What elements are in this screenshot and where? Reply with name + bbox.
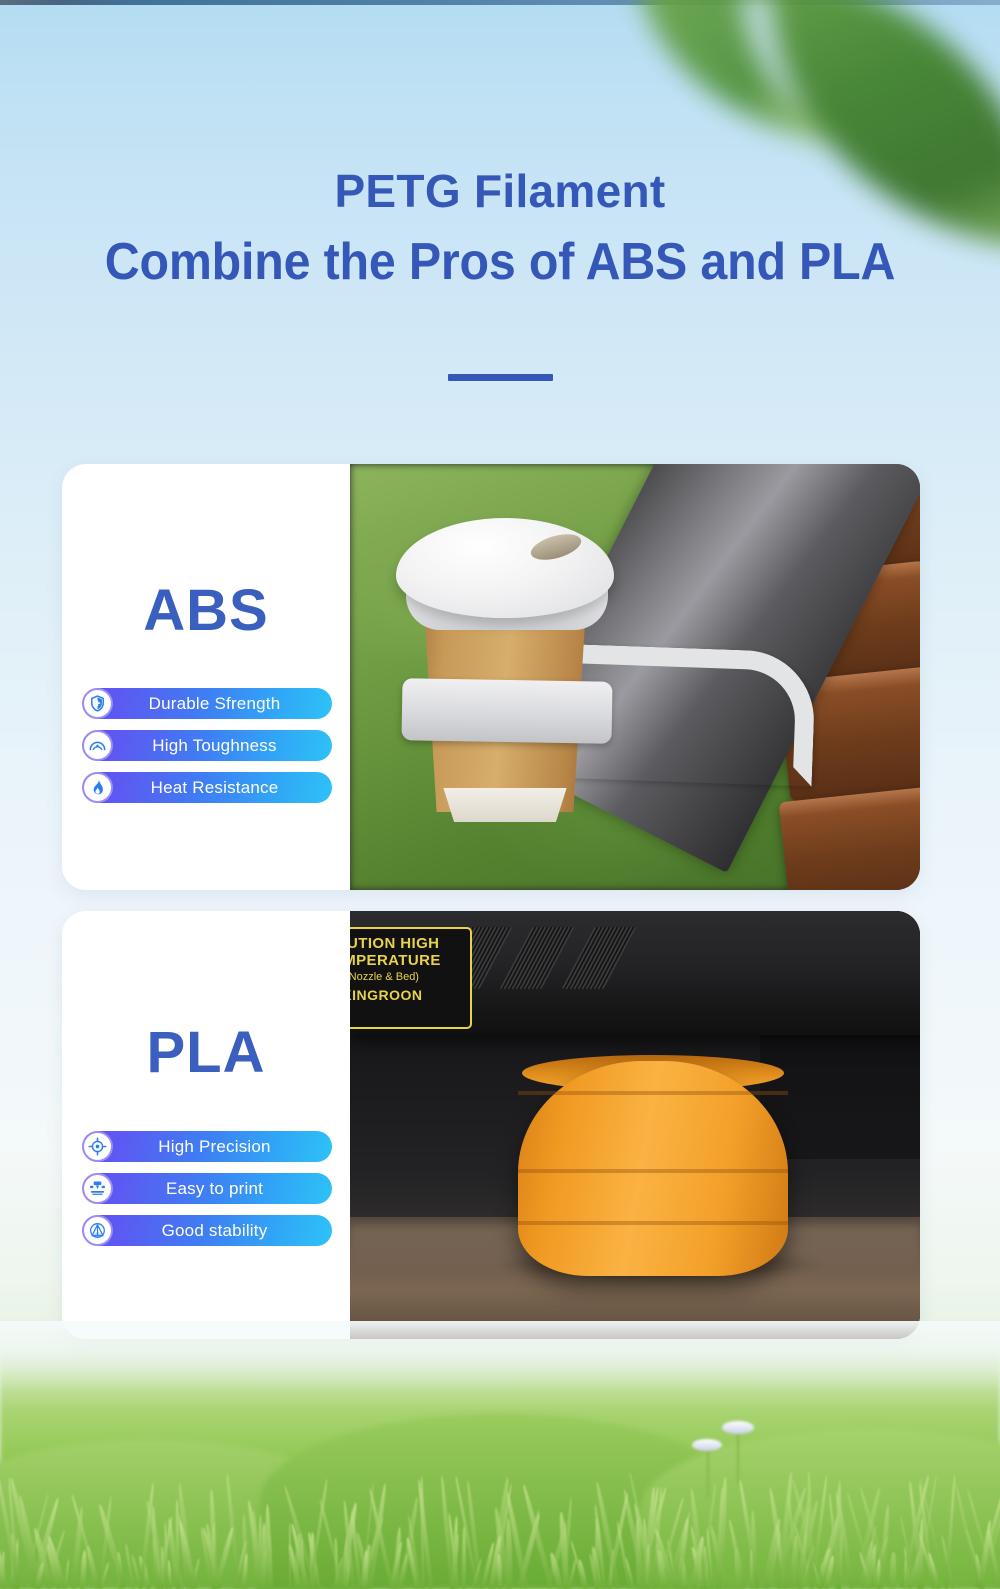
grass-foreground xyxy=(0,1321,1000,1589)
page-title: PETG Filament xyxy=(0,168,1000,214)
material-card-abs: ABS Durable Sfrength xyxy=(62,464,920,890)
abs-feature-list: Durable Sfrength High Toughness xyxy=(82,688,332,814)
flower-stem xyxy=(737,1431,739,1483)
badge-label: High Toughness xyxy=(111,736,332,756)
flower-head xyxy=(722,1421,754,1434)
shield-icon xyxy=(84,690,111,717)
badge-good-stability[interactable]: Good stability xyxy=(82,1215,332,1246)
vase-layer-line xyxy=(518,1221,788,1225)
grass-blade xyxy=(462,1526,467,1589)
cup-bottom xyxy=(438,788,572,822)
title-divider xyxy=(448,374,553,381)
badge-label: Heat Resistance xyxy=(111,778,332,798)
pla-material-name: PLA xyxy=(62,1019,350,1086)
abs-cup-holder-photo xyxy=(350,464,920,890)
orange-printed-vase xyxy=(518,1061,788,1276)
abs-material-name: ABS xyxy=(62,577,350,644)
grass-blade xyxy=(212,1523,215,1589)
white-flower xyxy=(690,1433,726,1497)
badge-label: Good stability xyxy=(111,1221,332,1241)
printed-cup-holder-band xyxy=(401,678,612,744)
caution-line-2: TEMPERATURE xyxy=(350,952,470,969)
badge-durable-strength[interactable]: Durable Sfrength xyxy=(82,688,332,719)
pla-info-panel: PLA High Precision xyxy=(62,911,350,1339)
caution-warning-label: CAUTION HIGH TEMPERATURE (Nozzle & Bed) … xyxy=(350,927,472,1029)
badge-label: Easy to print xyxy=(111,1179,332,1199)
printer-gantry: CAUTION HIGH TEMPERATURE (Nozzle & Bed) … xyxy=(350,911,920,1035)
printer-extruder-icon xyxy=(84,1175,111,1202)
badge-easy-to-print[interactable]: Easy to print xyxy=(82,1173,332,1204)
promo-page: PETG Filament Combine the Pros of ABS an… xyxy=(0,0,1000,1589)
material-card-pla: PLA High Precision xyxy=(62,911,920,1339)
headline-block: PETG Filament Combine the Pros of ABS an… xyxy=(0,168,1000,288)
grass-blade xyxy=(161,1546,164,1589)
pla-orange-vase-photo: CAUTION HIGH TEMPERATURE (Nozzle & Bed) … xyxy=(350,911,920,1339)
coffee-cup xyxy=(402,492,607,822)
vase-layer-line xyxy=(518,1091,788,1095)
flower-stem xyxy=(707,1449,709,1497)
grass-top-haze xyxy=(0,1321,1000,1391)
cup-lid xyxy=(396,518,614,618)
badge-heat-resistance[interactable]: Heat Resistance xyxy=(82,772,332,803)
gantry-vent xyxy=(562,927,637,989)
gantry-vent xyxy=(500,927,575,989)
pla-feature-list: High Precision Easy to print xyxy=(82,1131,332,1257)
badge-label: Durable Sfrength xyxy=(111,694,332,714)
vase-layer-line xyxy=(518,1169,788,1173)
abs-info-panel: ABS Durable Sfrength xyxy=(62,464,350,890)
page-subtitle: Combine the Pros of ABS and PLA xyxy=(35,236,965,288)
caution-line-1: CAUTION HIGH xyxy=(350,935,470,952)
caution-brand: KINGROON xyxy=(350,987,470,1003)
abs-photo-scene xyxy=(350,464,920,890)
flame-icon xyxy=(84,774,111,801)
caution-line-3: (Nozzle & Bed) xyxy=(350,971,470,983)
badge-high-precision[interactable]: High Precision xyxy=(82,1131,332,1162)
pla-photo-scene: CAUTION HIGH TEMPERATURE (Nozzle & Bed) … xyxy=(350,911,920,1339)
grass-blade xyxy=(595,1518,599,1589)
badge-high-toughness[interactable]: High Toughness xyxy=(82,730,332,761)
arch-spring-icon xyxy=(84,732,111,759)
bench-slat xyxy=(779,786,920,890)
flower-head xyxy=(692,1439,722,1451)
triangle-stability-icon xyxy=(84,1217,111,1244)
crosshair-target-icon xyxy=(84,1133,111,1160)
badge-label: High Precision xyxy=(111,1137,332,1157)
